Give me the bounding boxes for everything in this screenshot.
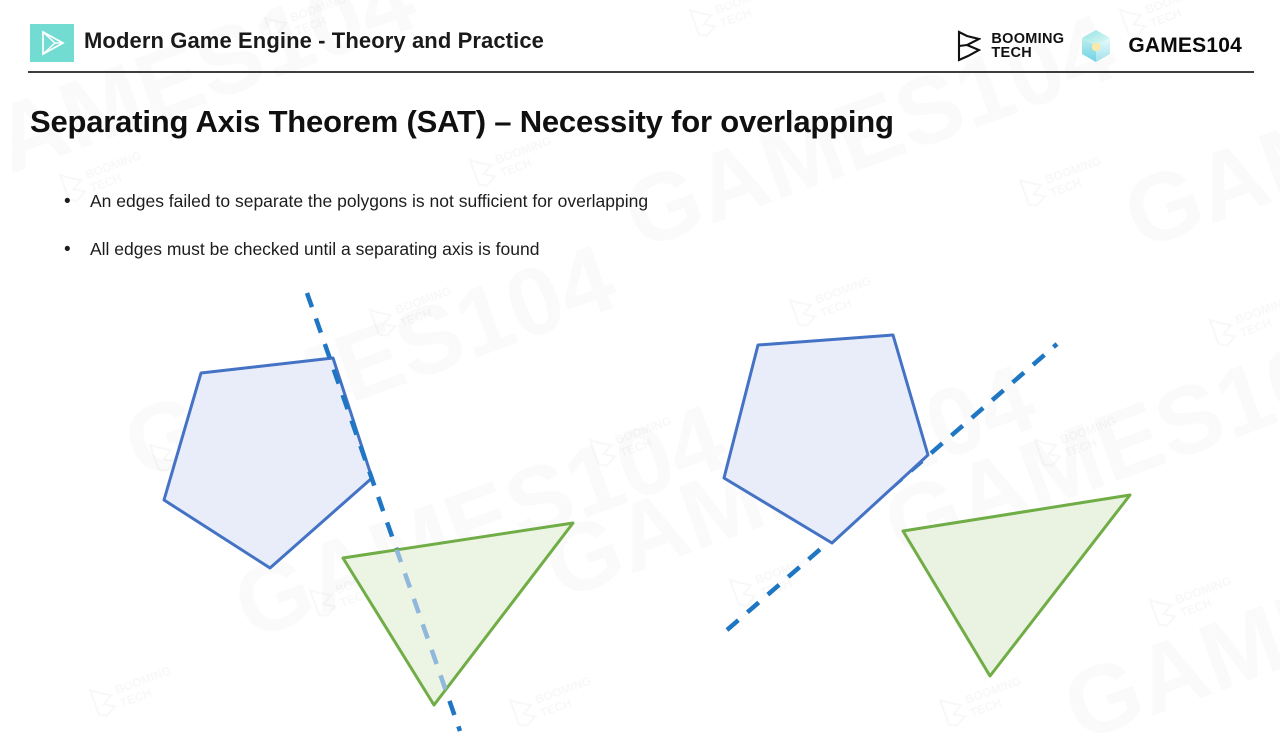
bullet-list: An edges failed to separate the polygons… bbox=[58, 190, 648, 285]
candidate-axis-inside-triangle-left bbox=[307, 293, 460, 731]
green-triangle-right bbox=[903, 495, 1130, 676]
booming-tech-wordmark: BOOMING TECH bbox=[991, 32, 1064, 60]
failed-separating-axis-figure bbox=[164, 293, 573, 731]
page-title: Separating Axis Theorem (SAT) – Necessit… bbox=[30, 104, 894, 140]
header-divider bbox=[28, 71, 1254, 73]
slide-header: Modern Game Engine - Theory and Practice… bbox=[0, 0, 1280, 74]
play-triangle-logo-icon bbox=[30, 24, 74, 62]
booming-line-2: TECH bbox=[991, 46, 1064, 60]
slide-root: BOOMING TECH GAMES104 bbox=[0, 0, 1280, 742]
separating-axis-dashed-line-right bbox=[727, 344, 1057, 630]
header-title: Modern Game Engine - Theory and Practice bbox=[84, 28, 544, 54]
blue-pentagon-right bbox=[724, 335, 928, 543]
games104-cube-icon bbox=[1079, 28, 1113, 64]
green-triangle-left bbox=[343, 523, 573, 705]
brand-logo-cluster: BOOMING TECH bbox=[957, 26, 1242, 66]
bullet-item-2: All edges must be checked until a separa… bbox=[58, 238, 648, 262]
booming-b-monogram-icon bbox=[957, 30, 981, 62]
games104-wordmark: GAMES104 bbox=[1128, 34, 1242, 58]
bullet-item-1: An edges failed to separate the polygons… bbox=[58, 190, 648, 214]
valid-separating-axis-figure bbox=[724, 335, 1130, 676]
blue-pentagon-left bbox=[164, 358, 372, 568]
booming-line-1: BOOMING bbox=[991, 32, 1064, 46]
candidate-axis-dashed-line-left bbox=[307, 293, 460, 731]
